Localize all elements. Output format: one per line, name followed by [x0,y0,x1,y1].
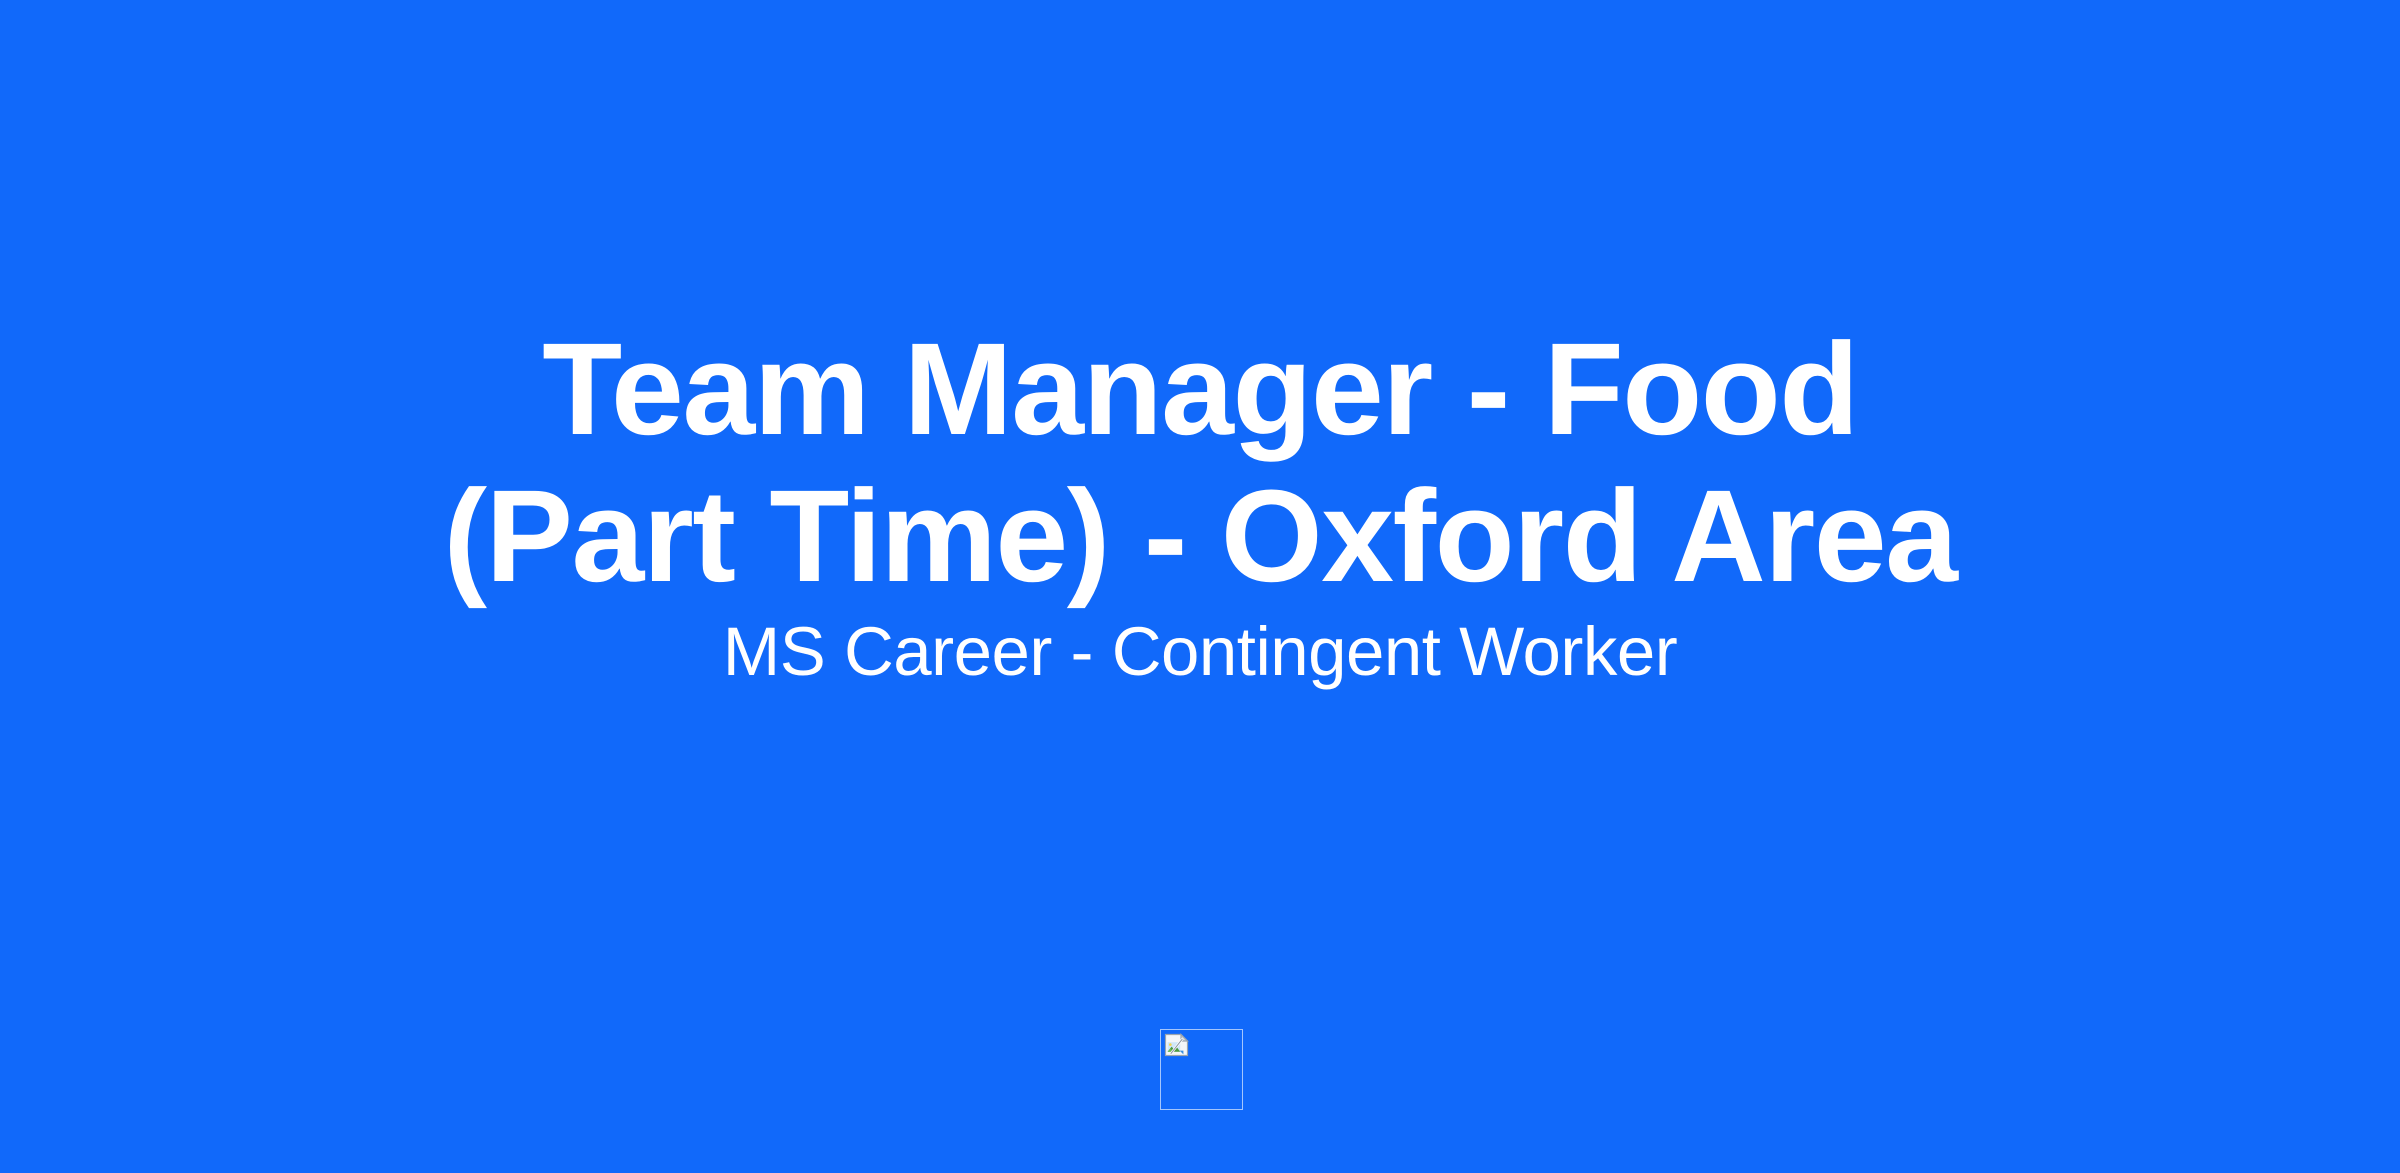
hero-banner: Team Manager - Food (Part Time) - Oxford… [0,0,2400,1173]
page-title: Team Manager - Food (Part Time) - Oxford… [420,316,1980,609]
broken-image-icon [1164,1033,1190,1057]
hero-image-placeholder [1160,1029,1243,1110]
page-subtitle: MS Career - Contingent Worker [200,612,2200,691]
